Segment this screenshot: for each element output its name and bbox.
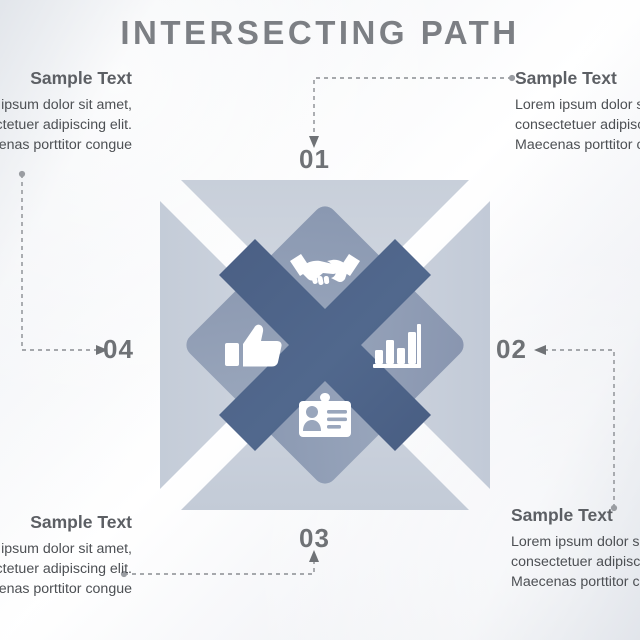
text-block-top-right: Sample Text Lorem ipsum dolor sit amet, …: [515, 68, 640, 156]
text-block-bottom-right: Sample Text Lorem ipsum dolor sit amet, …: [511, 505, 640, 593]
text-block-heading: Sample Text: [511, 505, 640, 525]
connector-line-01: [300, 72, 515, 154]
text-block-body: Lorem ipsum dolor sit amet, consectetuer…: [511, 532, 640, 592]
step-number-01: 01: [299, 144, 330, 175]
text-block-body: Lorem ipsum dolor sit amet, consectetuer…: [515, 95, 640, 155]
text-block-heading: Sample Text: [0, 68, 132, 88]
text-block-bottom-left: Sample Text Lorem ipsum dolor sit amet, …: [0, 512, 132, 600]
text-block-top-left: Sample Text Lorem ipsum dolor sit amet, …: [0, 68, 132, 156]
step-number-02: 02: [496, 334, 527, 365]
step-number-03: 03: [299, 523, 330, 554]
slide-canvas: INTERSECTING PATH Sample Text Lorem ipsu…: [0, 0, 640, 640]
text-block-body: Lorem ipsum dolor sit amet, consectetuer…: [0, 539, 132, 599]
diagram-svg: [150, 170, 500, 520]
intersecting-path-diagram: [150, 170, 500, 520]
connector-line-04: [16, 168, 116, 358]
page-title: INTERSECTING PATH: [0, 14, 640, 52]
text-block-heading: Sample Text: [0, 512, 132, 532]
connector-line-02: [528, 344, 638, 514]
text-block-body: Lorem ipsum dolor sit amet, consectetuer…: [0, 95, 132, 155]
text-block-heading: Sample Text: [515, 68, 640, 88]
step-number-04: 04: [103, 334, 134, 365]
